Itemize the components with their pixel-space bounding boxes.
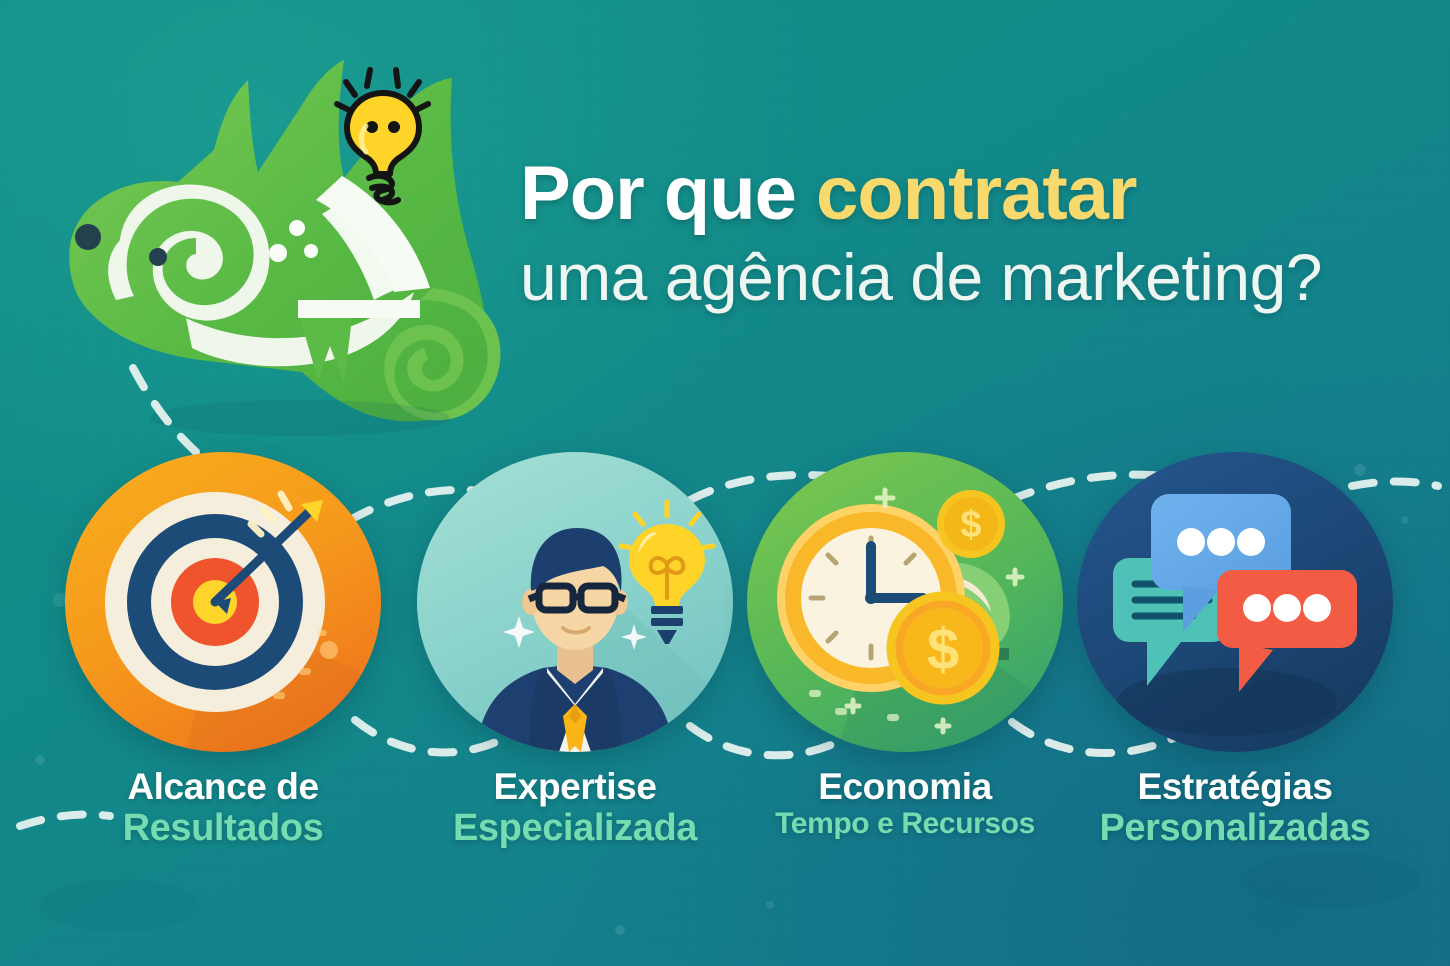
disc-economy[interactable]: $ $ [747,452,1063,752]
chat-bubbles-icon [1077,452,1393,752]
card-alcance-de-resultados[interactable]: Alcance de Resultados [63,452,383,851]
disc-wrap-economy: $ $ [747,452,1063,752]
svg-text:$: $ [927,617,959,682]
infographic-canvas: Alcance de Resultados [0,0,1450,966]
card-title: Economia [745,766,1065,807]
caption-estrategias-personalizadas: Estratégias Personalizadas [1075,766,1395,851]
clock-and-coins-icon: $ $ [747,452,1063,752]
page-title-block: Por que contratar uma agência de marketi… [520,155,1400,312]
card-subtitle: Especializada [415,807,735,851]
page-title-line1: Por que contratar [520,155,1400,233]
title-text-plain: Por que [520,151,816,236]
svg-text:$: $ [960,504,981,546]
caption-economia-tempo-e-recursos: Economia Tempo e Recursos [745,766,1065,842]
disc-target[interactable] [65,452,381,752]
target-bullseye-icon [65,452,381,752]
caption-expertise-especializada: Expertise Especializada [415,766,735,851]
card-subtitle: Resultados [63,807,383,851]
card-estrategias-personalizadas[interactable]: Estratégias Personalizadas [1075,452,1395,851]
title-text-accent: contratar [816,151,1136,236]
disc-wrap-target [65,452,381,752]
disc-strategy[interactable] [1077,452,1393,752]
disc-expert[interactable] [417,452,733,752]
disc-wrap-strategy [1077,452,1393,752]
coin-small: $ [937,490,1005,558]
page-title-line2: uma agência de marketing? [520,243,1400,312]
card-title: Alcance de [63,766,383,807]
card-subtitle: Personalizadas [1075,807,1395,851]
card-economia-tempo-e-recursos[interactable]: $ $ [745,452,1065,842]
card-title: Expertise [415,766,735,807]
card-subtitle: Tempo e Recursos [745,807,1065,842]
coin-large: $ [891,596,995,700]
businessman-expert-icon [417,452,733,752]
card-expertise-especializada[interactable]: Expertise Especializada [415,452,735,851]
caption-alcance-de-resultados: Alcance de Resultados [63,766,383,851]
card-title: Estratégias [1075,766,1395,807]
disc-wrap-expert [417,452,733,752]
